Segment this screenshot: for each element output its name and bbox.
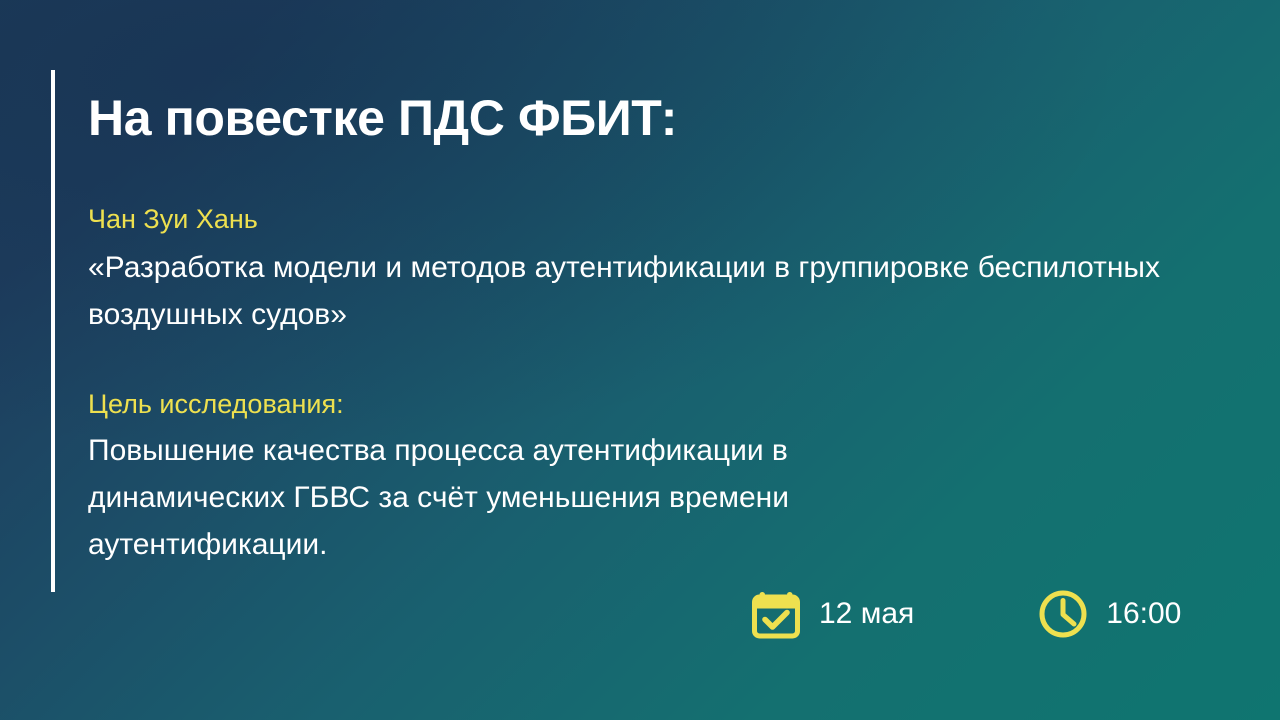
goal-block: Цель исследования: Повышение качества пр… xyxy=(88,385,988,568)
time-meta-item: 16:00 xyxy=(1037,588,1181,640)
time-label: 16:00 xyxy=(1106,599,1181,629)
page-title: На повестке ПДС ФБИТ: xyxy=(88,88,677,148)
clock-icon xyxy=(1037,588,1089,640)
calendar-check-icon xyxy=(750,588,802,640)
left-accent-bar xyxy=(51,70,55,592)
goal-label: Цель исследования: xyxy=(88,385,988,423)
footer-meta: 12 мая 16:00 xyxy=(750,588,1181,640)
speaker-name: Чан Зуи Хань xyxy=(88,200,1213,238)
date-meta-item: 12 мая xyxy=(750,588,914,640)
date-label: 12 мая xyxy=(819,599,914,629)
presentation-slide: На повестке ПДС ФБИТ: Чан Зуи Хань «Разр… xyxy=(0,0,1280,720)
work-title: «Разработка модели и методов аутентифика… xyxy=(88,244,1213,338)
goal-text: Повышение качества процесса аутентификац… xyxy=(88,427,978,568)
speaker-block: Чан Зуи Хань «Разработка модели и методо… xyxy=(88,200,1213,338)
